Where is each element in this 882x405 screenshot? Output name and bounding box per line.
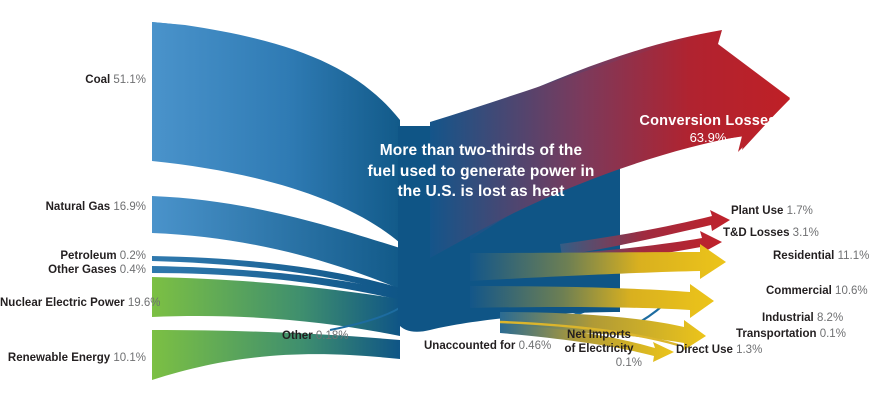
label-conversion-losses-name: Conversion Losses <box>628 113 788 129</box>
label-petroleum-value: 0.2% <box>120 250 146 262</box>
label-coal-value: 51.1% <box>113 74 146 86</box>
label-net-imports-line2: of Electricity <box>556 342 642 356</box>
label-natural-gas-name: Natural Gas <box>46 201 111 213</box>
label-renewable-name: Renewable Energy <box>8 352 110 364</box>
label-natural-gas-value: 16.9% <box>113 201 146 213</box>
label-industrial: Industrial 8.2% <box>762 311 843 325</box>
label-industrial-name: Industrial <box>762 312 814 324</box>
headline-annotation: More than two-thirds of the fuel used to… <box>338 141 624 203</box>
label-td-losses: T&D Losses 3.1% <box>723 226 819 240</box>
label-other-name: Other <box>282 330 313 342</box>
label-coal: Coal 51.1% <box>0 73 146 87</box>
label-unaccounted-name: Unaccounted for <box>424 340 515 352</box>
sankey-diagram: Coal 51.1% Natural Gas 16.9% Petroleum 0… <box>0 0 882 405</box>
label-td-losses-value: 3.1% <box>793 227 819 239</box>
label-direct-use: Direct Use 1.3% <box>676 343 762 357</box>
flow-renewable <box>152 330 400 380</box>
label-coal-name: Coal <box>85 74 110 86</box>
label-nuclear-value: 19.6% <box>128 297 161 309</box>
headline-line-3: the U.S. is lost as heat <box>338 182 624 203</box>
label-plant-use-name: Plant Use <box>731 205 783 217</box>
label-other-gases-name: Other Gases <box>48 264 116 276</box>
label-unaccounted-value: 0.46% <box>519 340 552 352</box>
label-other: Other 0.18% <box>282 329 348 343</box>
label-industrial-value: 8.2% <box>817 312 843 324</box>
label-net-imports-value: 0.1% <box>556 356 642 370</box>
label-commercial: Commercial 10.6% <box>766 284 868 298</box>
label-plant-use-value: 1.7% <box>787 205 813 217</box>
label-direct-use-value: 1.3% <box>736 344 762 356</box>
label-unaccounted: Unaccounted for 0.46% <box>424 339 551 353</box>
label-residential: Residential 11.1% <box>773 249 869 263</box>
label-other-gases-value: 0.4% <box>120 264 146 276</box>
label-td-losses-name: T&D Losses <box>723 227 789 239</box>
label-residential-value: 11.1% <box>838 250 870 262</box>
label-nuclear-name: Nuclear Electric Power <box>0 297 125 309</box>
label-renewable: Renewable Energy 10.1% <box>0 351 146 365</box>
label-other-value: 0.18% <box>316 330 349 342</box>
label-nuclear: Nuclear Electric Power 19.6% <box>0 296 146 310</box>
headline-line-1: More than two-thirds of the <box>338 141 624 162</box>
label-net-imports-line1: Net Imports <box>556 328 642 342</box>
label-petroleum-name: Petroleum <box>60 250 116 262</box>
label-other-gases: Other Gases 0.4% <box>0 263 146 277</box>
label-commercial-value: 10.6% <box>835 285 868 297</box>
label-conversion-losses-value: 63.9% <box>628 130 788 145</box>
label-conversion-losses: Conversion Losses 63.9% <box>628 113 788 145</box>
label-transportation-value: 0.1% <box>820 328 846 340</box>
label-direct-use-name: Direct Use <box>676 344 733 356</box>
label-residential-name: Residential <box>773 250 834 262</box>
label-transportation-name: Transportation <box>736 328 817 340</box>
headline-line-2: fuel used to generate power in <box>338 162 624 183</box>
label-petroleum: Petroleum 0.2% <box>0 249 146 263</box>
label-net-imports: Net Imports of Electricity 0.1% <box>556 328 642 370</box>
label-transportation: Transportation 0.1% <box>736 327 846 341</box>
label-natural-gas: Natural Gas 16.9% <box>0 200 146 214</box>
label-plant-use: Plant Use 1.7% <box>731 204 813 218</box>
label-commercial-name: Commercial <box>766 285 832 297</box>
label-renewable-value: 10.1% <box>113 352 146 364</box>
